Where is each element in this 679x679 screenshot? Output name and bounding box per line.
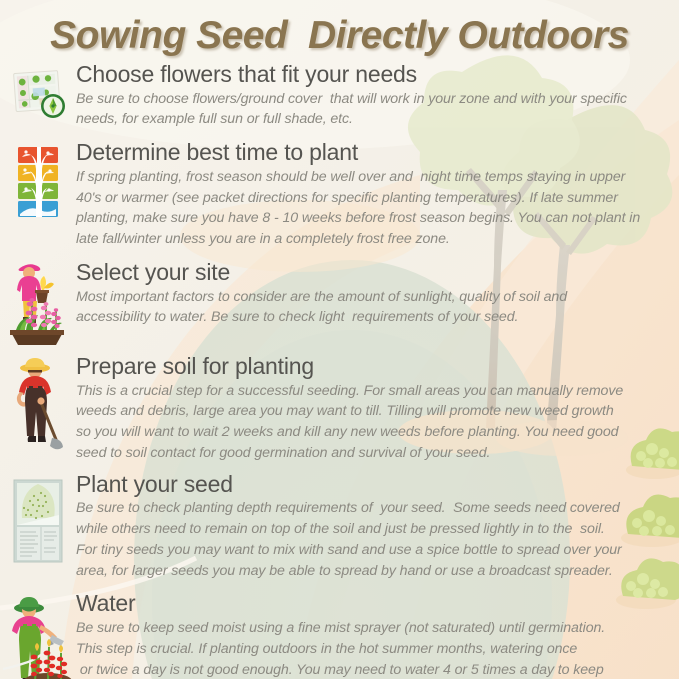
step-text-line: area, for larger seeds you may be able t… — [76, 561, 667, 582]
step-heading: Select your site — [76, 260, 667, 286]
step-text-line: weeds and debris, large area you may wan… — [76, 401, 667, 422]
step-text-line: 40's or warmer (see packet directions fo… — [76, 188, 667, 209]
step-body: Determine best time to plant If spring p… — [76, 140, 679, 250]
step-body: Water Be sure to keep seed moist using a… — [76, 591, 679, 679]
gardener-watering-icon — [0, 591, 76, 679]
step-item: Choose flowers that fit your needs Be su… — [0, 62, 679, 130]
step-text-line: seed to soil contact for good germinatio… — [76, 443, 667, 464]
step-text: Most important factors to consider are t… — [76, 287, 667, 328]
step-body: Plant your seed Be sure to check plantin… — [76, 472, 679, 582]
step-text: If spring planting, frost season should … — [76, 167, 667, 250]
step-text-line: so you will want to wait 2 weeks and kil… — [76, 422, 667, 443]
step-item: Water Be sure to keep seed moist using a… — [0, 591, 679, 679]
step-body: Select your site Most important factors … — [76, 260, 679, 328]
gardener-with-shovel-icon — [0, 354, 76, 452]
step-text: Be sure to check planting depth requirem… — [76, 498, 667, 581]
step-text-line: Be sure to choose flowers/ground cover t… — [76, 89, 667, 110]
step-item: Determine best time to plant If spring p… — [0, 140, 679, 250]
step-text-line: If spring planting, frost season should … — [76, 167, 667, 188]
page-title: Sowing Seed Directly Outdoors — [0, 14, 679, 58]
step-text-line: Be sure to keep seed moist using a fine … — [76, 618, 667, 639]
infographic-poster: Sowing Seed Directly Outdoors — [0, 0, 679, 679]
step-text-line: or twice a day is not good enough. You m… — [76, 660, 667, 679]
step-item: Prepare soil for planting This is a cruc… — [0, 354, 679, 464]
step-text: Be sure to keep seed moist using a fine … — [76, 618, 667, 679]
step-text-line: Be sure to check planting depth requirem… — [76, 498, 667, 519]
step-heading: Plant your seed — [76, 472, 667, 498]
step-heading: Prepare soil for planting — [76, 354, 667, 380]
step-text: Be sure to choose flowers/ground cover t… — [76, 89, 667, 130]
step-text-line: late fall/winter unless you are in a com… — [76, 229, 667, 250]
step-text-line: Most important factors to consider are t… — [76, 287, 667, 308]
step-text-line: needs, for example full sun or full shad… — [76, 109, 667, 130]
step-text-line: This is a crucial step for a successful … — [76, 381, 667, 402]
step-heading: Determine best time to plant — [76, 140, 667, 166]
four-seasons-icon — [0, 140, 76, 218]
step-heading: Choose flowers that fit your needs — [76, 62, 667, 88]
step-body: Choose flowers that fit your needs Be su… — [76, 62, 679, 130]
step-text-line: This step is crucial. If planting outdoo… — [76, 639, 667, 660]
step-text-line: For tiny seeds you may want to mix with … — [76, 540, 667, 561]
step-item: Plant your seed Be sure to check plantin… — [0, 472, 679, 582]
step-heading: Water — [76, 591, 667, 617]
step-item: Select your site Most important factors … — [0, 260, 679, 346]
gardener-with-flower-bed-icon — [0, 260, 76, 346]
step-body: Prepare soil for planting This is a cruc… — [76, 354, 679, 464]
step-text-line: while others need to remain on top of th… — [76, 519, 667, 540]
garden-plan-map-icon — [0, 62, 76, 124]
step-text: This is a crucial step for a successful … — [76, 381, 667, 464]
step-text-line: accessibility to water. Be sure to check… — [76, 307, 667, 328]
seed-packet-icon — [0, 472, 76, 564]
step-text-line: planting, make sure you have 8 - 10 week… — [76, 208, 667, 229]
step-list: Choose flowers that fit your needs Be su… — [0, 62, 679, 679]
